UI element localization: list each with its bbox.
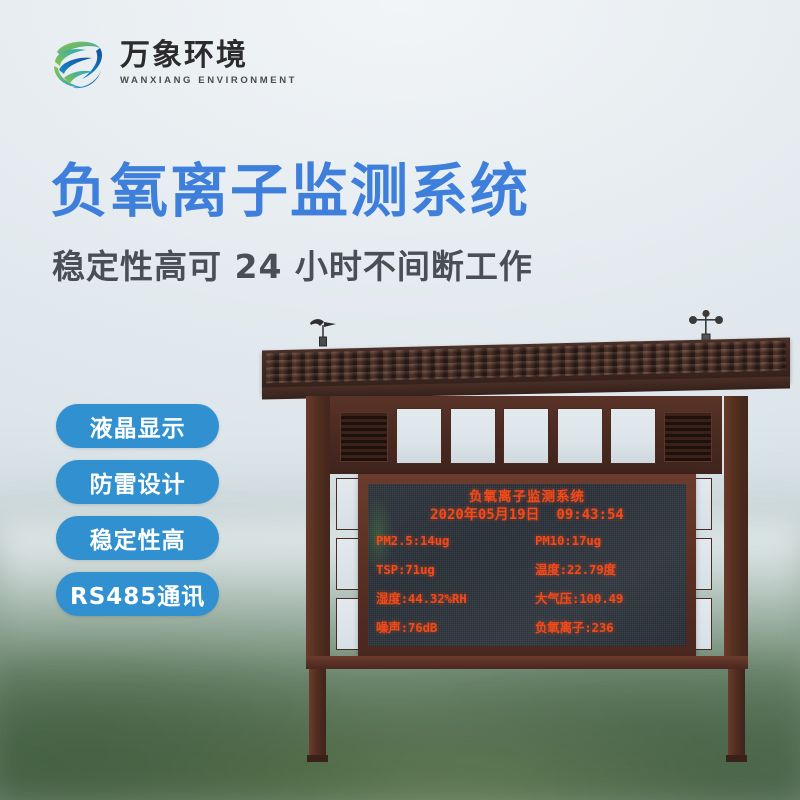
feature-badge-lightning-protection: 防雷设计 bbox=[56, 460, 219, 504]
led-datetime: 2020年05月19日 09:43:54 bbox=[376, 506, 678, 524]
support-post-right bbox=[724, 396, 748, 656]
feature-badge-rs485: RS485通讯 bbox=[56, 572, 219, 616]
station-leg-left bbox=[309, 669, 326, 761]
led-date: 2020年05月19日 bbox=[430, 507, 539, 523]
brand-logo: 万象环境 WANXIANG ENVIRONMENT bbox=[48, 32, 297, 94]
side-window-pane bbox=[336, 598, 360, 650]
led-time: 09:43:54 bbox=[556, 507, 623, 523]
reading-pm25: PM2.5:14ug bbox=[376, 534, 527, 548]
bottom-rail bbox=[306, 656, 748, 669]
reading-tsp: TSP:71ug bbox=[376, 563, 527, 577]
led-display-screen: 负氧离子监测系统 2020年05月19日 09:43:54 PM2.5:14ug… bbox=[368, 484, 686, 646]
roof-tile-rows bbox=[266, 341, 786, 384]
poster-stage: 万象环境 WANXIANG ENVIRONMENT 负氧离子监测系统 稳定性高可… bbox=[0, 0, 800, 800]
louver-vent-left bbox=[340, 412, 388, 462]
station-foot-right bbox=[726, 755, 747, 762]
upper-window-row bbox=[396, 408, 656, 464]
page-title: 负氧离子监测系统 bbox=[50, 160, 750, 224]
display-board-frame: 负氧离子监测系统 2020年05月19日 09:43:54 PM2.5:14ug… bbox=[358, 474, 696, 656]
feature-badge-lcd-display: 液晶显示 bbox=[56, 404, 219, 448]
wind-vane-icon bbox=[306, 314, 340, 348]
window-pane bbox=[610, 408, 656, 464]
louver-vent-right bbox=[664, 412, 712, 462]
led-title: 负氧离子监测系统 bbox=[376, 489, 678, 506]
feature-badge-list: 液晶显示 防雷设计 稳定性高 RS485通讯 bbox=[56, 404, 219, 616]
window-pane bbox=[557, 408, 603, 464]
upper-frame-band bbox=[330, 396, 722, 474]
side-window-pane bbox=[336, 538, 360, 590]
reading-pm10: PM10:17ug bbox=[527, 534, 678, 548]
reading-temperature: 温度:22.79度 bbox=[527, 563, 678, 577]
side-window-pane bbox=[336, 478, 360, 530]
feature-badge-high-stability: 稳定性高 bbox=[56, 516, 219, 560]
brand-name-cn: 万象环境 bbox=[120, 40, 297, 72]
window-pane bbox=[503, 408, 549, 464]
brand-name-en: WANXIANG ENVIRONMENT bbox=[120, 75, 297, 86]
station-foot-left bbox=[307, 755, 328, 762]
window-pane bbox=[396, 408, 442, 464]
globe-swirl-logo-icon bbox=[48, 32, 110, 94]
monitoring-station: 负氧离子监测系统 2020年05月19日 09:43:54 PM2.5:14ug… bbox=[262, 308, 792, 758]
led-content: 负氧离子监测系统 2020年05月19日 09:43:54 PM2.5:14ug… bbox=[368, 484, 686, 646]
led-readings-grid: PM2.5:14ug PM10:17ug TSP:71ug 温度:22.79度 … bbox=[376, 526, 678, 642]
brand-logo-text: 万象环境 WANXIANG ENVIRONMENT bbox=[120, 40, 297, 86]
reading-humidity: 湿度:44.32%RH bbox=[376, 592, 527, 606]
page-subtitle: 稳定性高可 24 小时不间断工作 bbox=[52, 240, 752, 288]
reading-negative-oxygen-ion: 负氧离子:236 bbox=[527, 621, 678, 635]
window-pane bbox=[450, 408, 496, 464]
reading-air-pressure: 大气压:100.49 bbox=[527, 592, 678, 606]
station-leg-right bbox=[728, 669, 745, 761]
reading-noise: 噪声:76dB bbox=[376, 621, 527, 635]
support-post-left bbox=[306, 396, 330, 656]
